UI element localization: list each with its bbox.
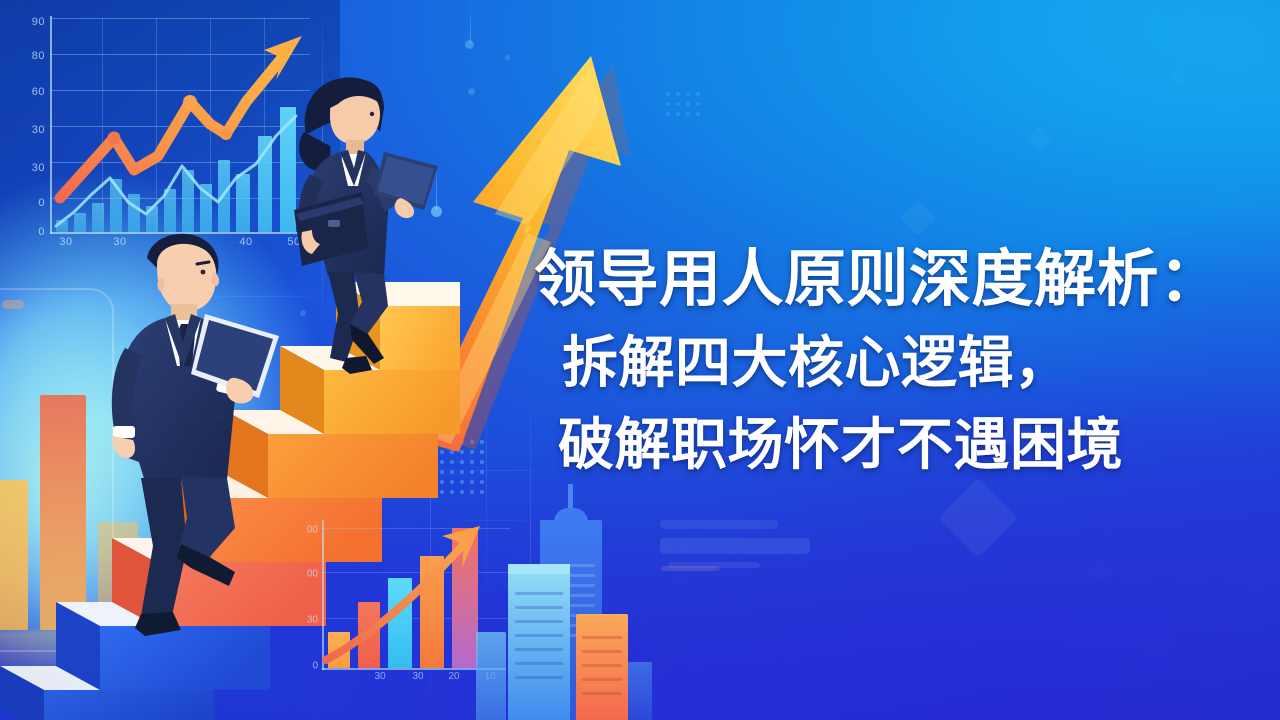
poster-canvas: 0 0 30 30 60 80 90 (0, 0, 1280, 720)
vignette-overlay (0, 0, 1280, 720)
